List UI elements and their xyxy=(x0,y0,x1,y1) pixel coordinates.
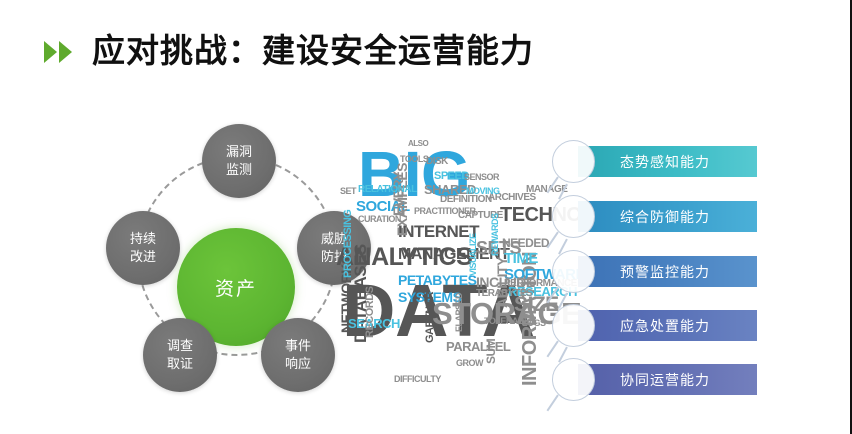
slide-canvas: 应对挑战：建设安全运营能力 资产 漏洞 监测 威胁 防护 事件 响应 调查 取证… xyxy=(0,0,852,434)
wordcloud-word: REWARDS xyxy=(492,213,500,256)
wordcloud-word: SUM xyxy=(486,339,497,364)
ring-node-label-line1: 持续 xyxy=(130,230,156,248)
wordcloud-word: DEFINITION xyxy=(440,196,492,205)
wordcloud-word: PROCESSING xyxy=(344,210,354,278)
magnifier-icon xyxy=(552,195,595,238)
wordcloud-word: PRACTITIONER xyxy=(414,208,476,216)
magnifier-icon xyxy=(552,140,595,183)
wordcloud-word: NEEDED xyxy=(502,238,549,249)
ring-node-label-line2: 改进 xyxy=(130,248,156,266)
capability-row[interactable]: 态势感知能力 xyxy=(552,146,757,177)
page-title: 应对挑战：建设安全运营能力 xyxy=(92,34,534,67)
capability-label: 协同运营能力 xyxy=(620,370,710,390)
double-triangle-icon xyxy=(44,41,74,63)
wordcloud-word: INTERNET xyxy=(398,225,479,240)
wordcloud-word: DISK xyxy=(426,158,448,167)
ring-node-label-line2: 响应 xyxy=(285,355,311,373)
wordcloud-word: CURATION xyxy=(358,216,401,224)
wordcloud-word: GROW xyxy=(456,360,483,368)
ring-node-label-line2: 监测 xyxy=(226,161,252,179)
ring-hub-label: 资产 xyxy=(215,274,257,301)
wordcloud-word: SET xyxy=(340,188,356,196)
slide-header: 应对挑战：建设安全运营能力 xyxy=(44,22,534,78)
capability-bar-emergency-response[interactable]: 应急处置能力 xyxy=(578,310,757,341)
capability-label: 应急处置能力 xyxy=(620,316,710,336)
capability-row[interactable]: 协同运营能力 xyxy=(552,364,757,395)
wordcloud-word: PARALLEL xyxy=(446,341,510,352)
capability-label: 态势感知能力 xyxy=(620,152,710,172)
magnifier-icon xyxy=(552,358,595,401)
capability-bar-integrated-defense[interactable]: 综合防御能力 xyxy=(578,201,757,232)
capability-bar-early-warning-monitoring[interactable]: 预警监控能力 xyxy=(578,256,757,287)
ring-node-label-line1: 事件 xyxy=(285,337,311,355)
wordcloud-word: ALSO xyxy=(408,140,428,147)
ring-node-label-line1: 调查 xyxy=(167,337,193,355)
capability-row[interactable]: 综合防御能力 xyxy=(552,201,757,232)
ring-node-incident-response[interactable]: 事件 响应 xyxy=(261,318,335,392)
magnifier-icon xyxy=(552,250,595,293)
wordcloud-word: SENSOR xyxy=(464,174,499,182)
wordcloud-word: GARTNER xyxy=(426,292,436,343)
capability-row[interactable]: 应急处置能力 xyxy=(552,310,757,341)
capability-label: 预警监控能力 xyxy=(620,262,710,282)
wordcloud-word: LOGS xyxy=(522,320,546,328)
ring-node-investigation-forensics[interactable]: 调查 取证 xyxy=(143,318,217,392)
wordcloud-word: TERABYTES xyxy=(476,290,532,299)
capability-list: 态势感知能力 综合防御能力 预警监控能力 应急处置能力 协同运营能力 xyxy=(552,146,764,394)
wordcloud-word: ELAPSED xyxy=(456,293,464,332)
capability-label: 综合防御能力 xyxy=(620,207,710,227)
ring-node-vulnerability-monitoring[interactable]: 漏洞 监测 xyxy=(202,124,276,198)
wordcloud-word: TOOLS xyxy=(400,156,428,164)
wordcloud-word: DIFFICULTY xyxy=(394,376,441,384)
wordcloud-word: PETABYTES xyxy=(398,274,476,286)
capability-row[interactable]: 预警监控能力 xyxy=(552,256,757,287)
capability-bar-collaborative-operations[interactable]: 协同运营能力 xyxy=(578,364,757,395)
wordcloud-word: VISUALIZE xyxy=(470,233,478,276)
ring-node-continuous-improvement[interactable]: 持续 改进 xyxy=(106,211,180,285)
magnifier-icon xyxy=(552,304,595,347)
ring-node-label-line2: 取证 xyxy=(167,355,193,373)
ring-node-label-line1: 漏洞 xyxy=(226,143,252,161)
wordcloud-word: RECORDS xyxy=(366,286,376,338)
wordcloud-word: MOVING xyxy=(466,188,500,196)
big-data-word-cloud: BIG DATA STORAGE TECHNOLOGIES INTERNET M… xyxy=(336,128,588,400)
wordcloud-word: ANALYTICS xyxy=(336,246,472,268)
capability-bar-situational-awareness[interactable]: 态势感知能力 xyxy=(578,146,757,177)
wordcloud-word: RELATIONAL xyxy=(358,186,417,195)
